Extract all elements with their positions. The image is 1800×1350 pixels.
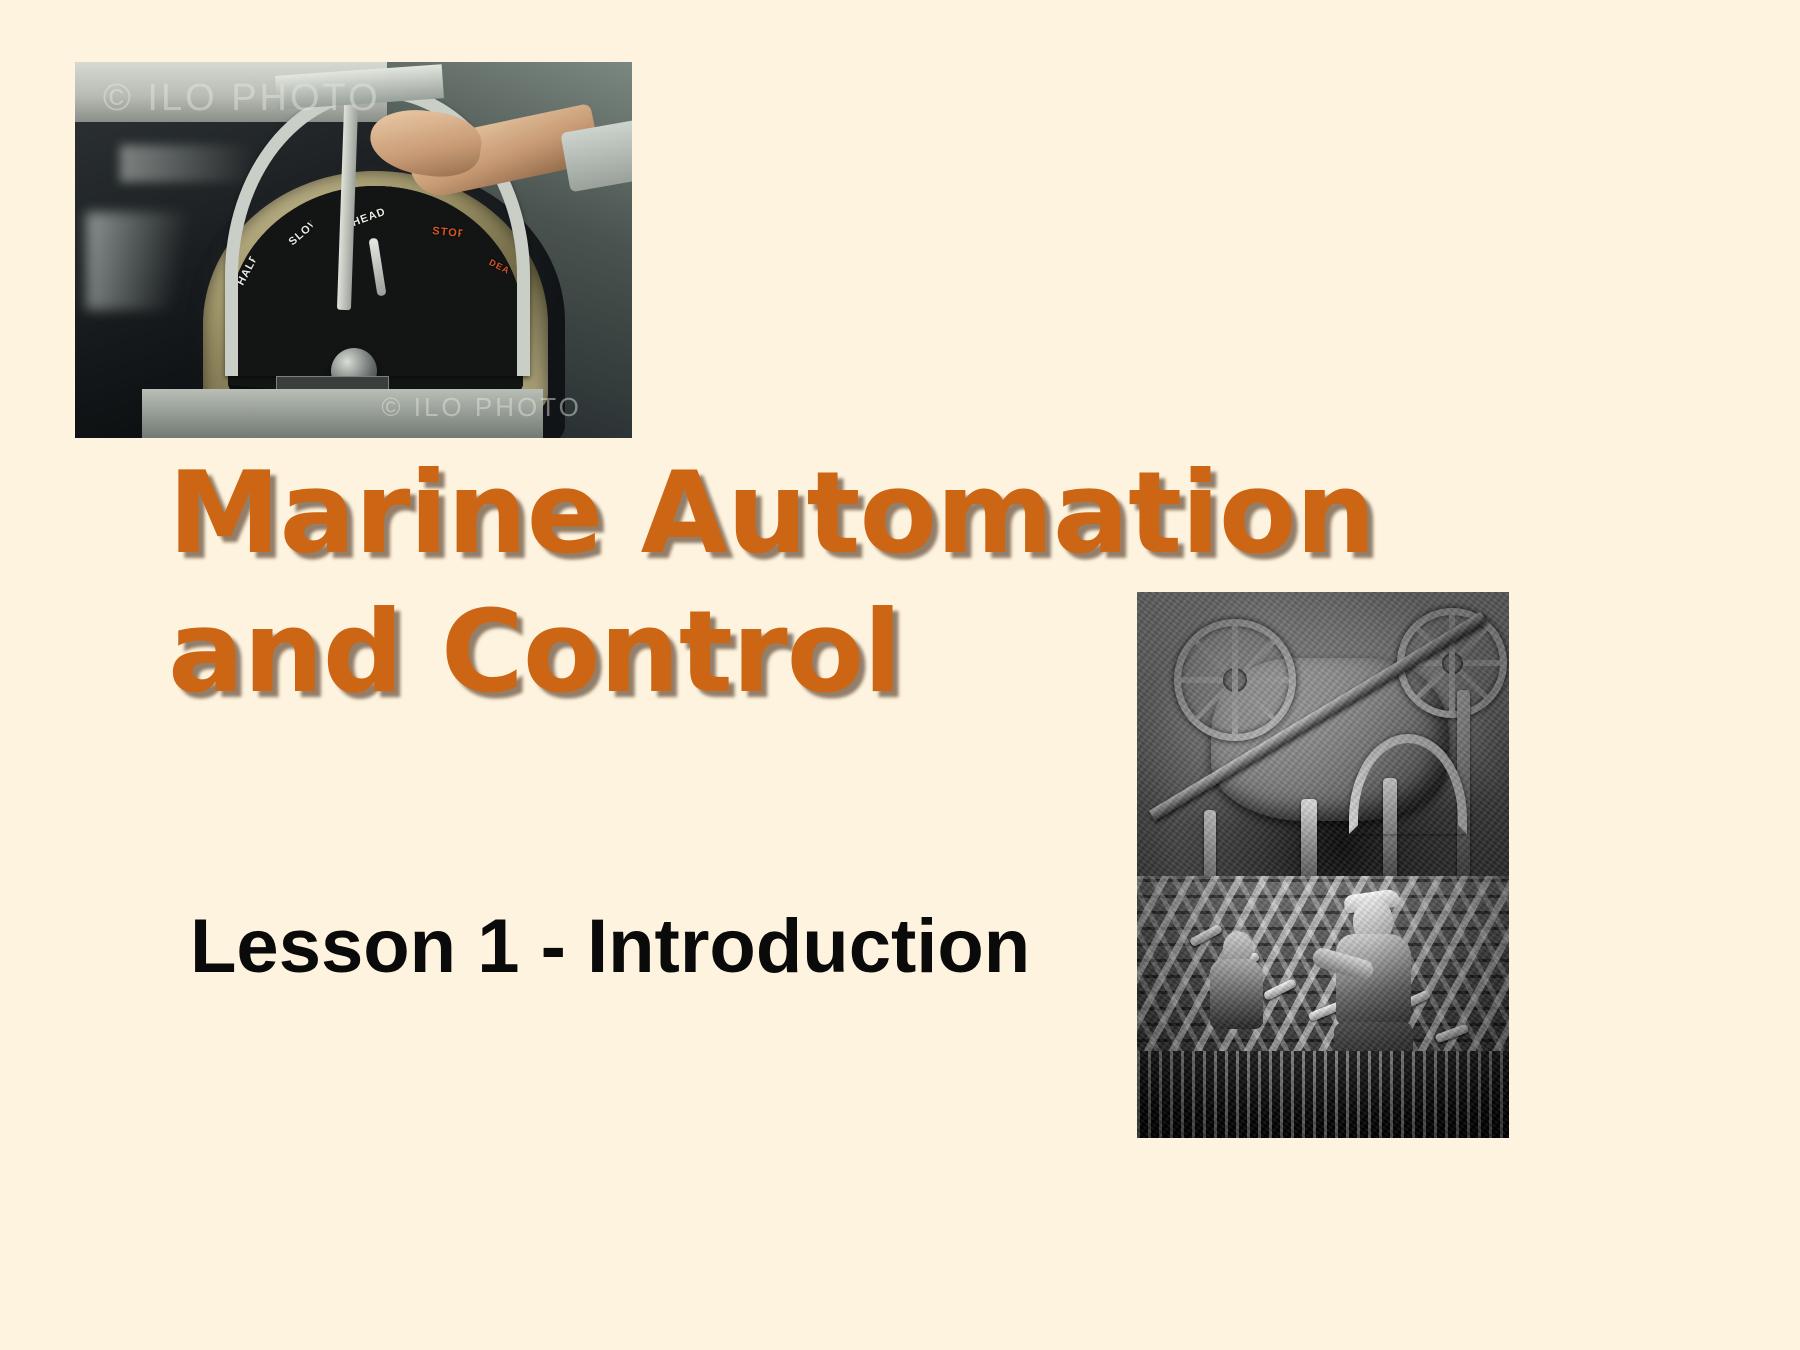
presentation-slide: NAV FULL HALF SLOW HEAD STOP DEAD SLOW S… (0, 0, 1800, 1350)
engine-room-photo (1137, 592, 1509, 1138)
operator-sleeve (561, 120, 632, 193)
slide-subtitle: Lesson 1 - Introduction (190, 905, 1030, 989)
watermark-bottom: © ILO PHOTO (381, 392, 582, 423)
valve-handwheel-large (1174, 619, 1296, 741)
engine-room-floor-plate (1137, 1051, 1509, 1138)
watermark-top: © ILO PHOTO (103, 77, 381, 120)
title-line-1: Marine Automation (168, 444, 1408, 583)
telegraph-photo: NAV FULL HALF SLOW HEAD STOP DEAD SLOW S… (75, 62, 632, 438)
